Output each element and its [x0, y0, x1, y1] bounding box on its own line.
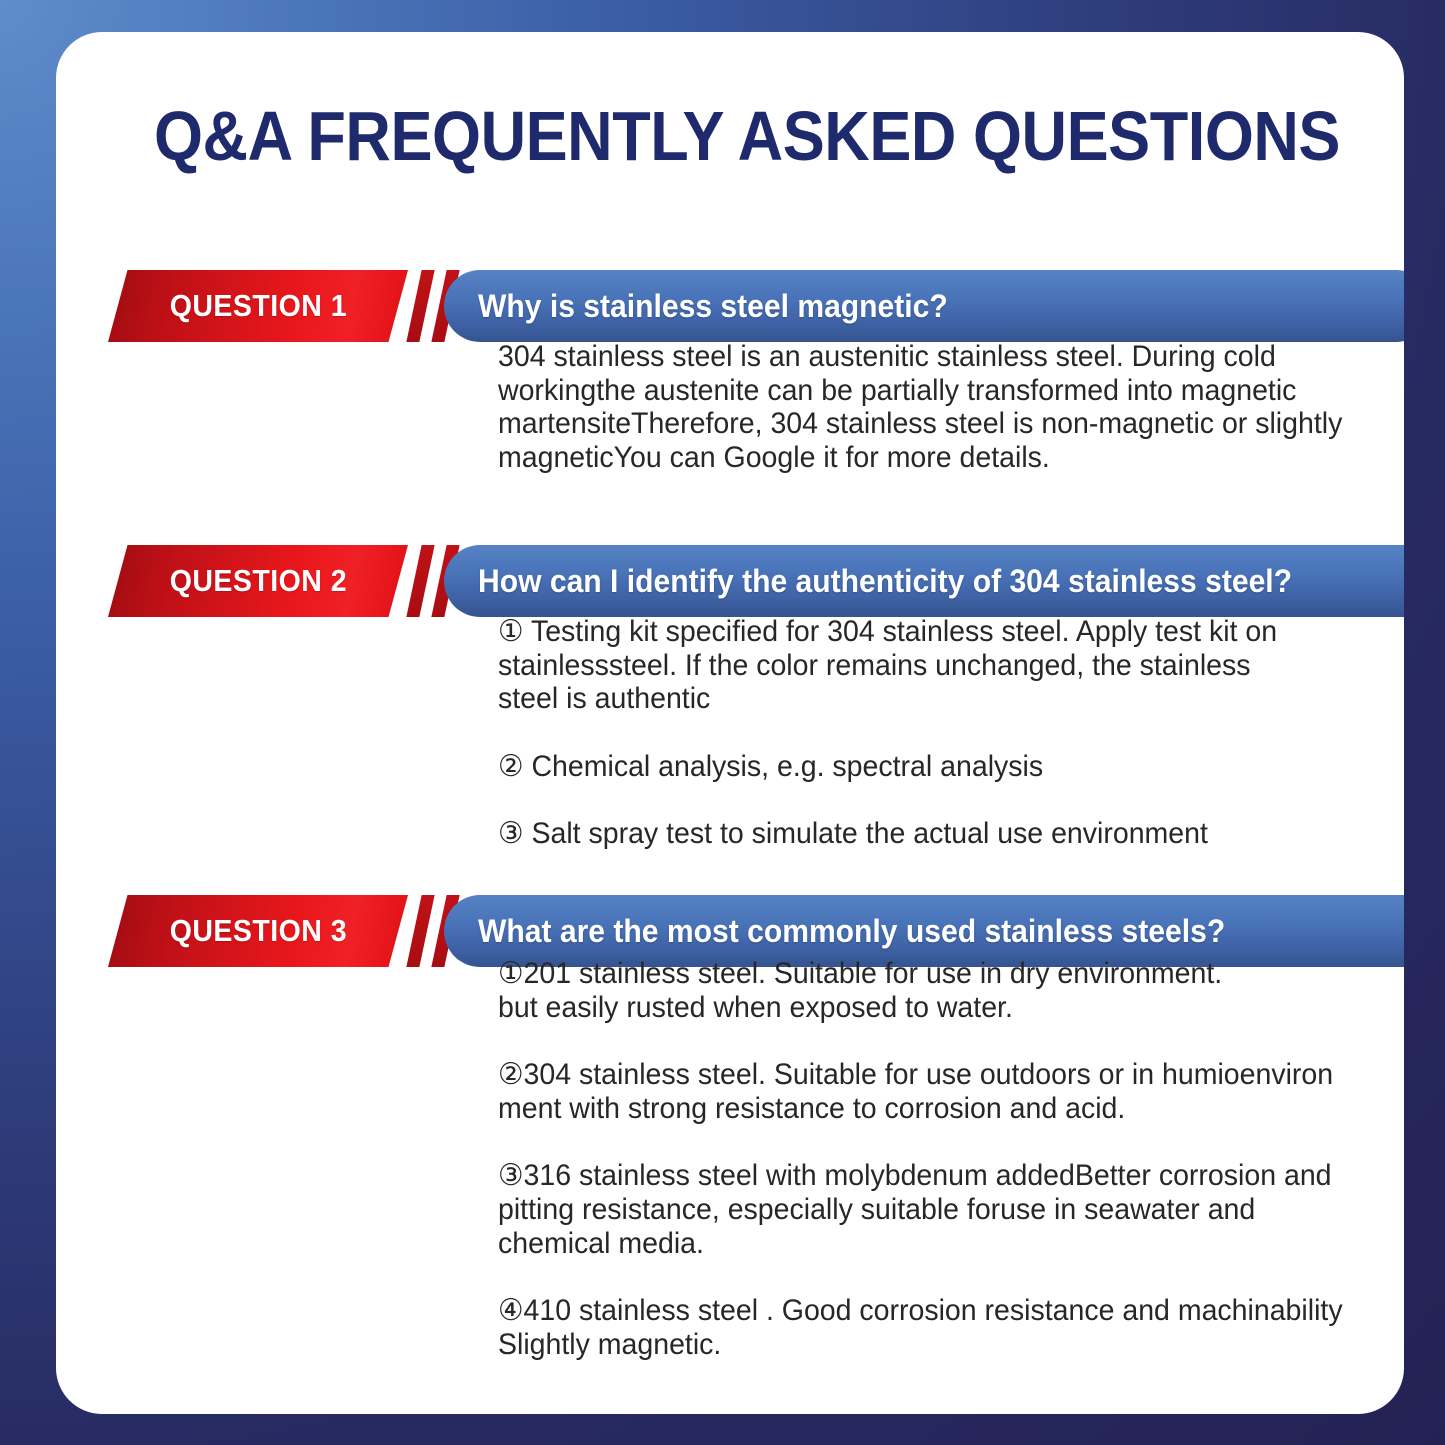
answer-item-1: ①201 stainless steel. Suitable for use i…	[498, 957, 1358, 991]
answer-2: ① Testing kit specified for 304 stainles…	[498, 615, 1296, 851]
question-tag-2[interactable]: QUESTION 2	[108, 545, 408, 617]
question-pill-1[interactable]: Why is stainless steel magnetic?	[444, 270, 1404, 342]
question-text-1: Why is stainless steel magnetic?	[478, 288, 948, 325]
slash-icon	[406, 895, 434, 967]
answer-3: ①201 stainless steel. Suitable for use i…	[498, 957, 1358, 1361]
answer-item-2: ② Chemical analysis, e.g. spectral analy…	[498, 750, 1296, 784]
slash-icon	[406, 545, 434, 617]
question-text-2: How can I identify the authenticity of 3…	[478, 563, 1292, 600]
question-tag-3[interactable]: QUESTION 3	[108, 895, 408, 967]
answer-1: 304 stainless steel is an austenitic sta…	[498, 340, 1382, 474]
question-tag-label-3: QUESTION 3	[169, 913, 346, 949]
answer-paragraph: 304 stainless steel is an austenitic sta…	[498, 340, 1382, 474]
answer-item-3: ③316 stainless steel with molybdenum add…	[498, 1159, 1358, 1260]
answer-item-3: ③ Salt spray test to simulate the actual…	[498, 817, 1296, 851]
question-tag-1[interactable]: QUESTION 1	[108, 270, 408, 342]
question-text-3: What are the most commonly used stainles…	[478, 913, 1225, 950]
answer-item-4: ④410 stainless steel . Good corrosion re…	[498, 1294, 1358, 1361]
question-tag-label-2: QUESTION 2	[169, 563, 346, 599]
faq-card: Q&A FREQUENTLY ASKED QUESTIONS QUESTION …	[56, 32, 1404, 1414]
page-title: Q&A FREQUENTLY ASKED QUESTIONS	[154, 98, 1234, 175]
answer-item-2: ②304 stainless steel. Suitable for use o…	[498, 1058, 1358, 1125]
question-pill-2[interactable]: How can I identify the authenticity of 3…	[444, 545, 1404, 617]
answer-item-1b: but easily rusted when exposed to water.	[498, 991, 1358, 1025]
answer-item-1: ① Testing kit specified for 304 stainles…	[498, 615, 1296, 716]
question-tag-label-1: QUESTION 1	[169, 288, 346, 324]
slash-icon	[406, 270, 434, 342]
